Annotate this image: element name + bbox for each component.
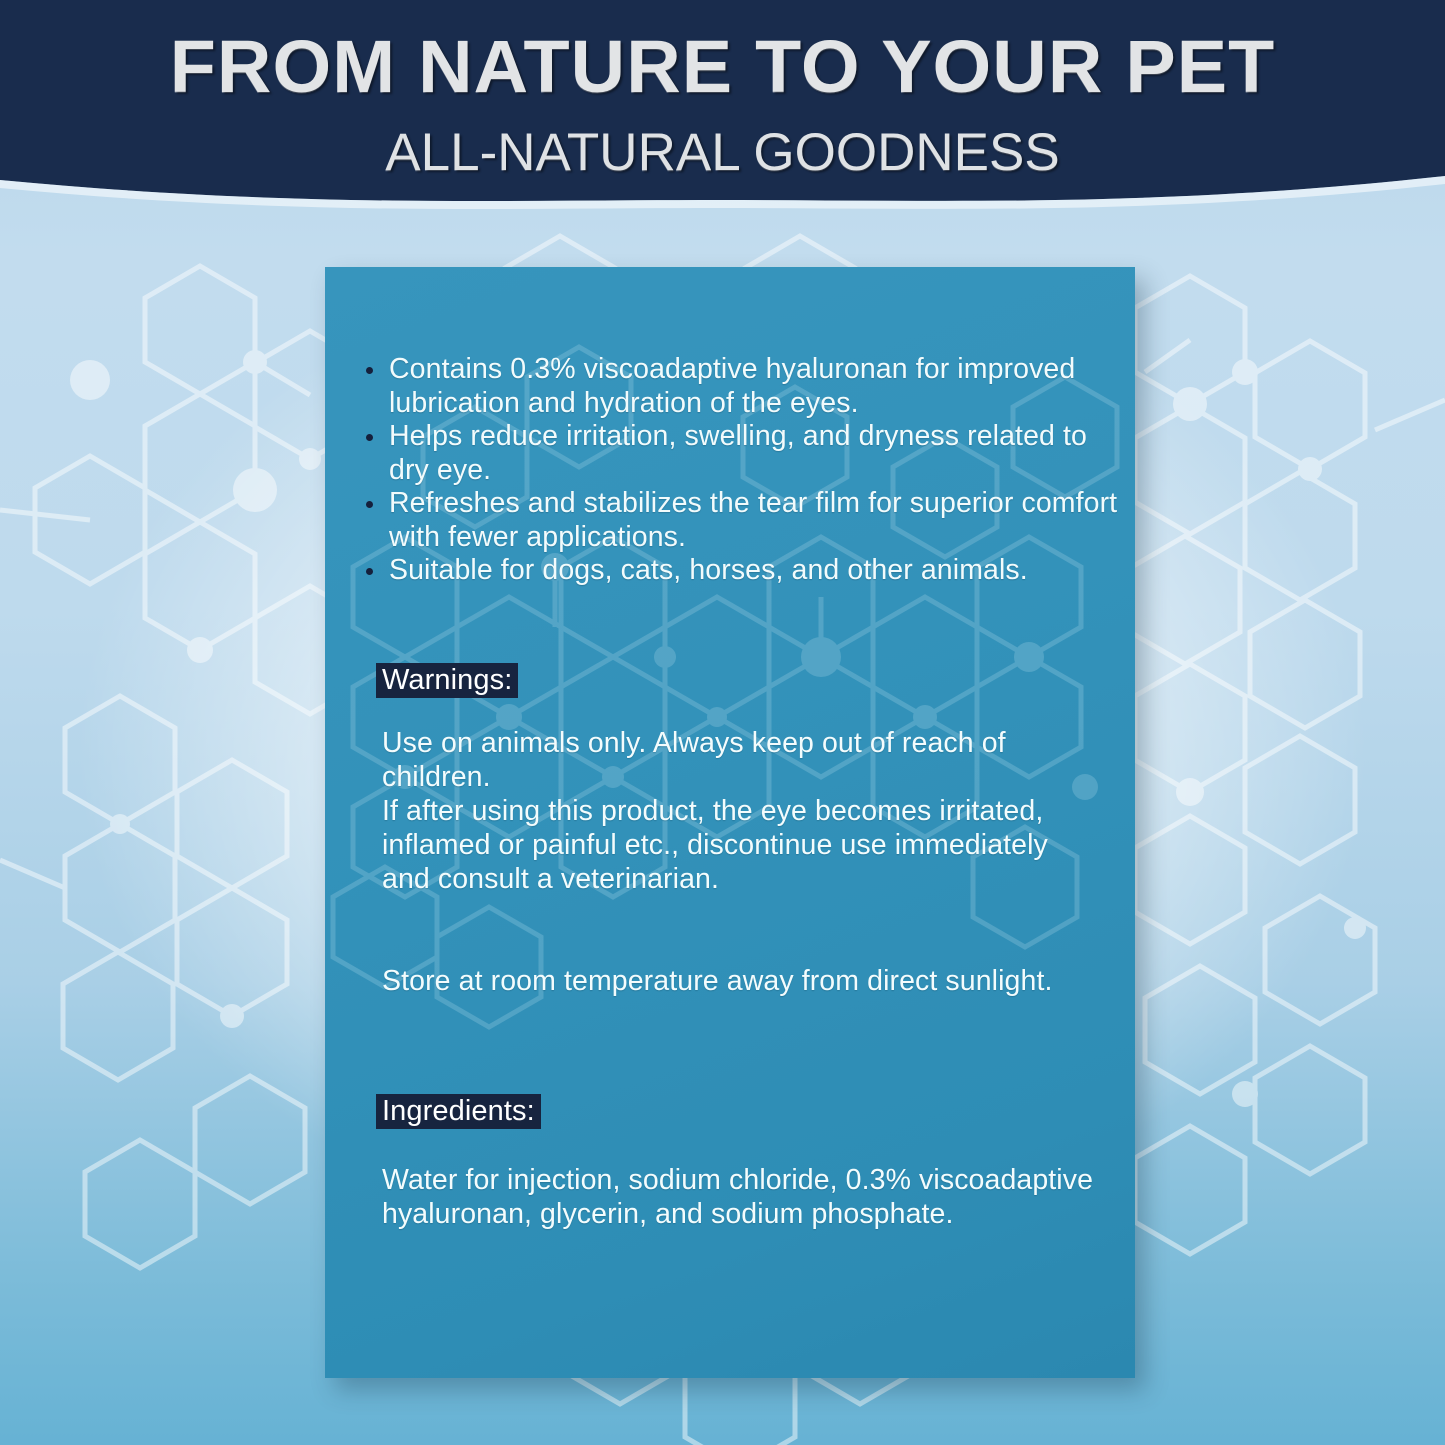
- list-item: Contains 0.3% viscoadaptive hyaluronan f…: [358, 353, 1118, 420]
- ingredients-body: Water for injection, sodium chloride, 0.…: [382, 1163, 1102, 1231]
- list-item: Suitable for dogs, cats, horses, and oth…: [358, 554, 1118, 588]
- infographic-page: Contains 0.3% viscoadaptive hyaluronan f…: [0, 0, 1445, 1445]
- benefits-list: Contains 0.3% viscoadaptive hyaluronan f…: [358, 353, 1118, 588]
- list-item: Refreshes and stabilizes the tear film f…: [358, 487, 1118, 554]
- header-banner: FROM NATURE TO YOUR PET ALL-NATURAL GOOD…: [0, 0, 1445, 210]
- ingredients-heading: Ingredients:: [376, 1094, 541, 1129]
- header-text-block: FROM NATURE TO YOUR PET ALL-NATURAL GOOD…: [0, 0, 1445, 179]
- warnings-heading: Warnings:: [376, 663, 518, 698]
- page-subtitle: ALL-NATURAL GOODNESS: [0, 104, 1445, 179]
- list-item: Helps reduce irritation, swelling, and d…: [358, 420, 1118, 487]
- storage-instructions: Store at room temperature away from dire…: [382, 964, 1102, 998]
- product-info-panel: Contains 0.3% viscoadaptive hyaluronan f…: [325, 267, 1135, 1378]
- page-title: FROM NATURE TO YOUR PET: [0, 0, 1445, 104]
- panel-content: Contains 0.3% viscoadaptive hyaluronan f…: [325, 267, 1135, 1378]
- warnings-body: Use on animals only. Always keep out of …: [382, 726, 1102, 896]
